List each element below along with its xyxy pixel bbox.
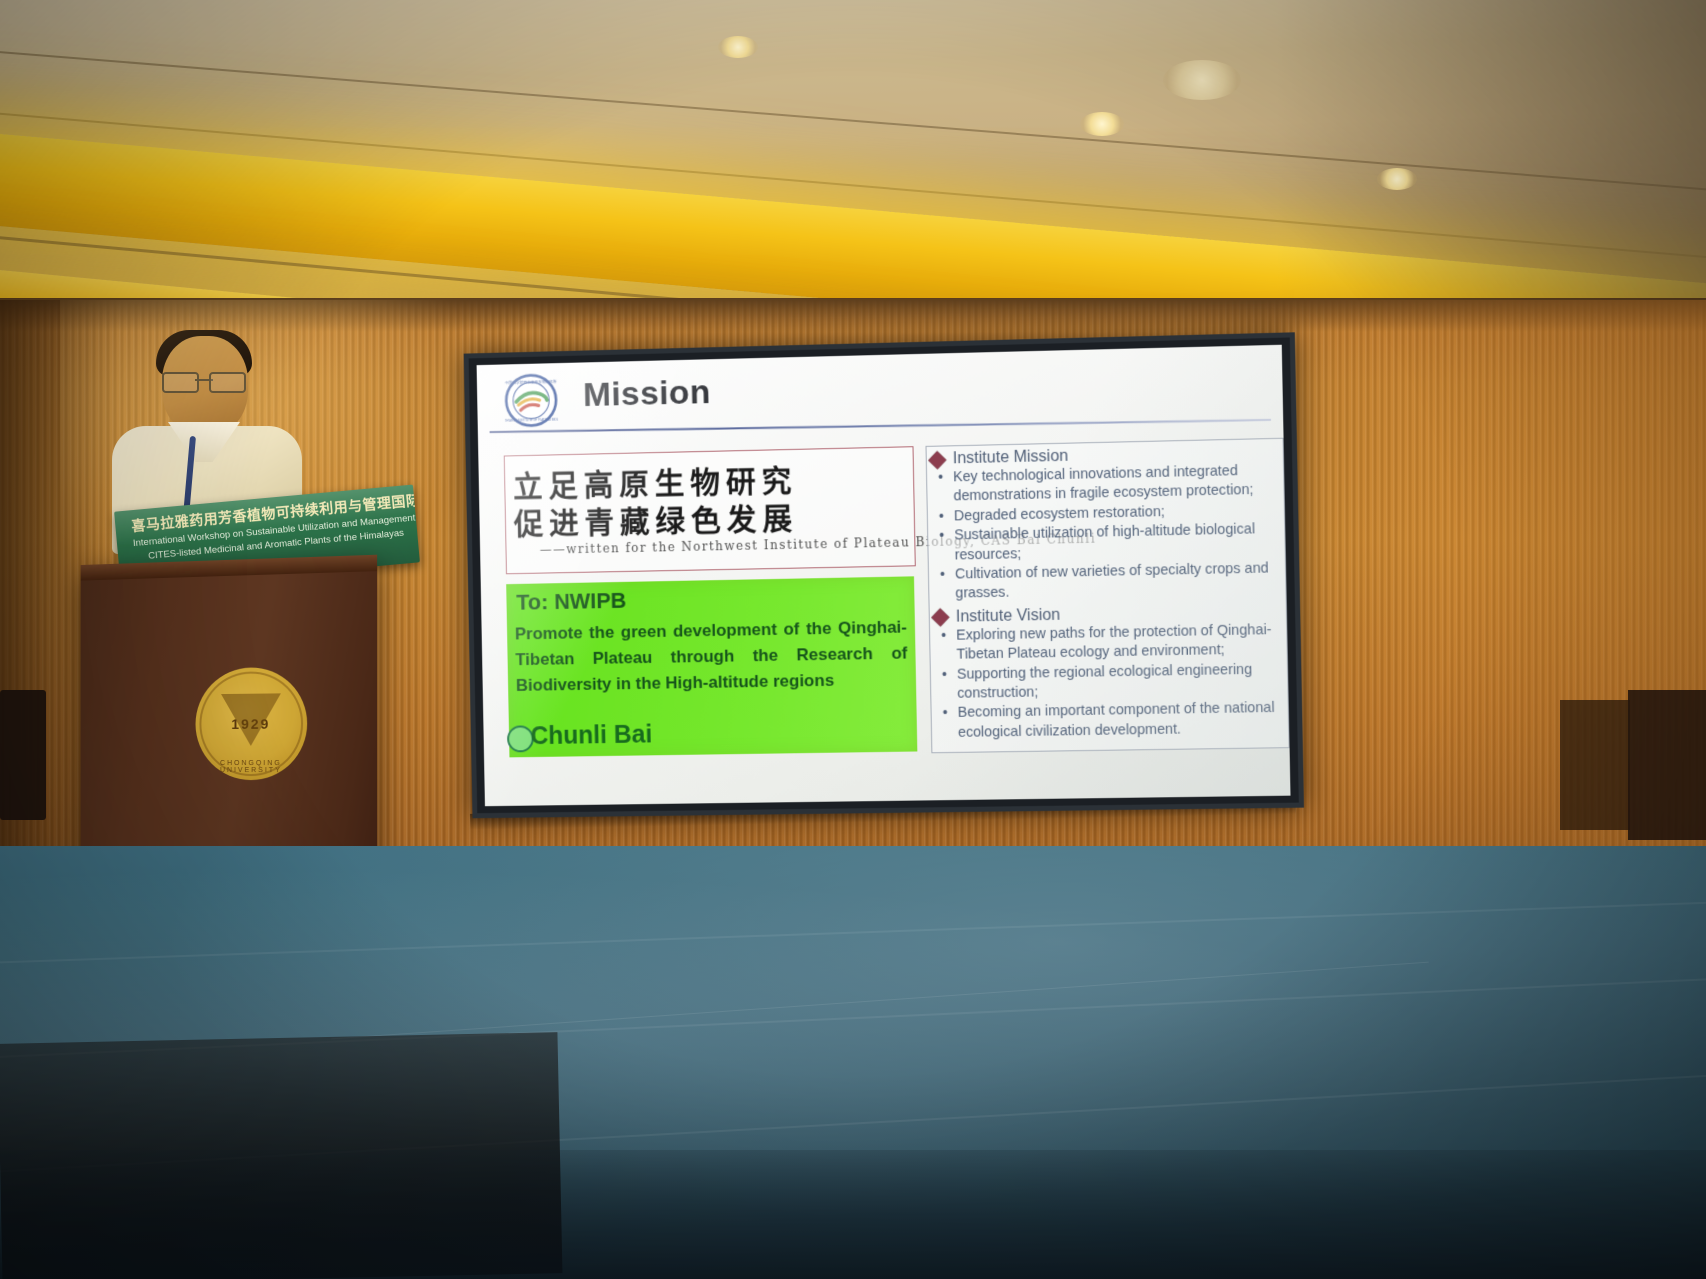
- green-box-signature-name: Chunli Bai: [530, 721, 652, 752]
- ceiling-vent: [1163, 60, 1241, 100]
- green-quote-box: To: NWIPB Promote the green development …: [506, 576, 917, 757]
- mission-bullet: Cultivation of new varieties of specialt…: [933, 559, 1282, 605]
- chongqing-university-emblem: 1929 CHONGQING UNIVERSITY: [196, 667, 308, 781]
- vision-bullet: Becoming an important component of the n…: [935, 699, 1284, 743]
- side-object: [0, 690, 46, 820]
- downlight-icon: [1377, 168, 1417, 190]
- nwipb-institute-logo: 中国科学院西北高原生物研究所 NORTHWEST INSTITUTE OF PL…: [504, 373, 558, 428]
- foreground-shadow: [0, 1150, 1706, 1279]
- green-box-to-label: To: NWIPB: [516, 588, 627, 616]
- vision-bullet: Exploring new paths for the protection o…: [934, 621, 1283, 666]
- mission-bullet: Sustainable utilization of high-altitude…: [932, 520, 1281, 566]
- calligraphy-box: 立足高原生物研究 促进青藏绿色发展 ——written for the Nort…: [504, 446, 916, 574]
- side-object: [1560, 700, 1630, 830]
- presentation-slide: 中国科学院西北高原生物研究所 NORTHWEST INSTITUTE OF PL…: [477, 345, 1291, 806]
- downlight-icon: [718, 36, 758, 58]
- side-object: [1628, 690, 1706, 840]
- mission-vision-panel: Institute Mission Key technological inno…: [926, 438, 1290, 754]
- projection-screen: 中国科学院西北高原生物研究所 NORTHWEST INSTITUTE OF PL…: [464, 332, 1304, 818]
- emblem-name: CHONGQING UNIVERSITY: [196, 760, 308, 774]
- vision-bullet: Supporting the regional ecological engin…: [935, 660, 1284, 705]
- conference-hall-photo: 中国科学院西北高原生物研究所 NORTHWEST INSTITUTE OF PL…: [0, 0, 1706, 1279]
- diamond-bullet-icon: [931, 609, 949, 627]
- downlight-icon: [1080, 112, 1124, 136]
- slide-title: Mission: [583, 373, 711, 415]
- diamond-bullet-icon: [928, 450, 946, 468]
- mission-bullet: Key technological innovations and integr…: [931, 461, 1280, 508]
- institute-vision-heading: Institute Vision: [956, 607, 1061, 627]
- svg-text:NORTHWEST INSTITUTE OF PLATEAU: NORTHWEST INSTITUTE OF PLATEAU BIOLOGY: [504, 417, 558, 423]
- eyeglasses-icon: [162, 372, 246, 389]
- emblem-triangle-icon: [221, 693, 281, 746]
- green-box-body: Promote the green development of the Qin…: [515, 615, 908, 699]
